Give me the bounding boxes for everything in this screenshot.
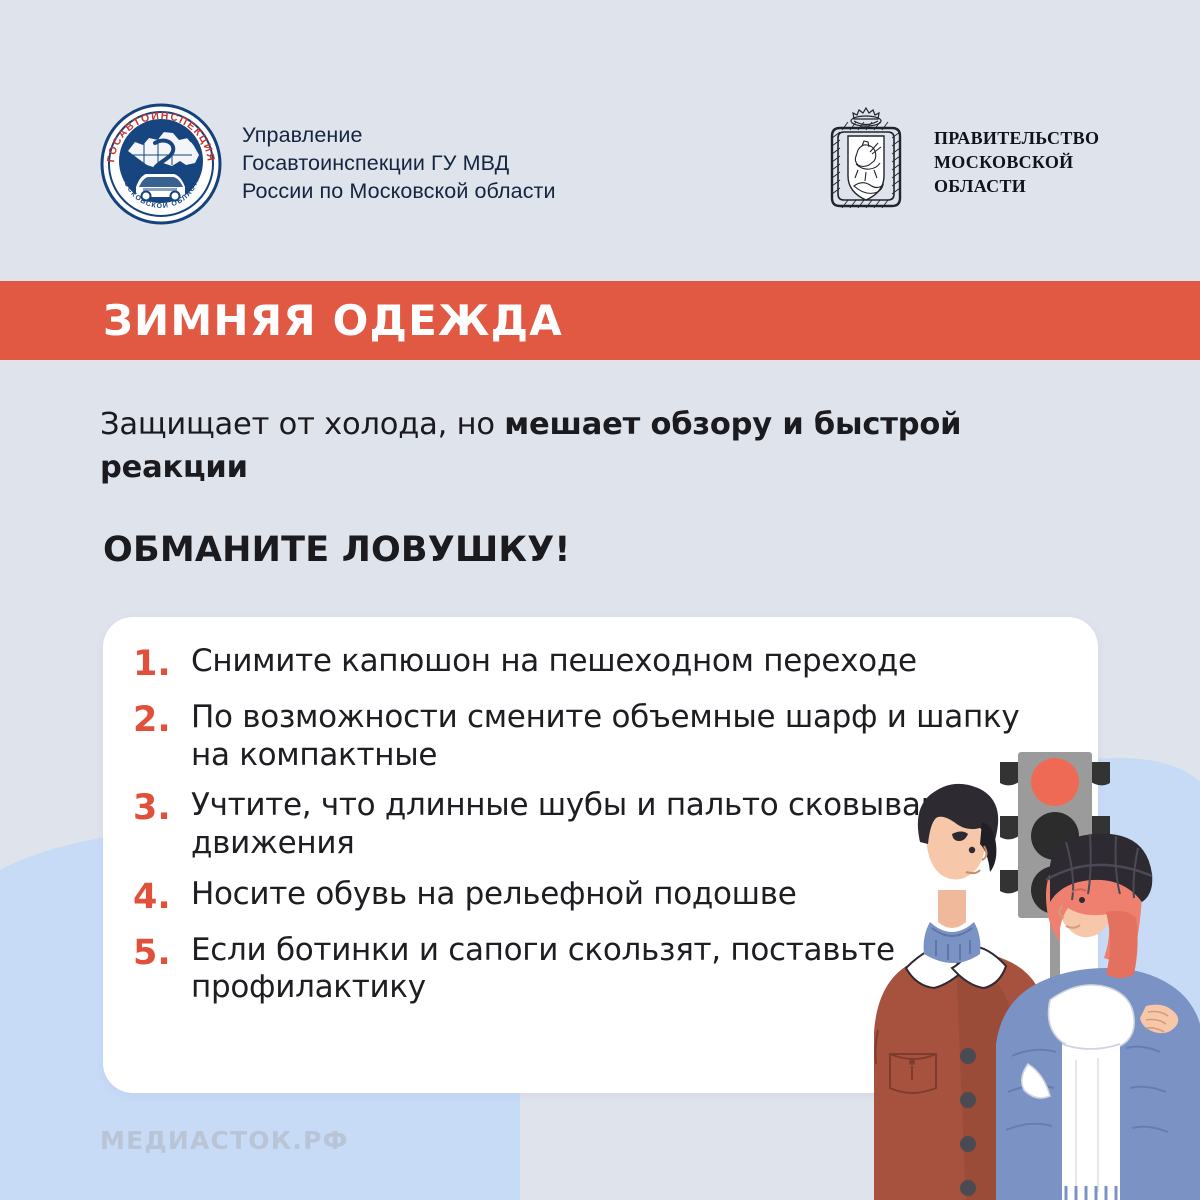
pedestrians-at-traffic-light-illustration [860,700,1200,1200]
gov-line-3: ОБЛАСТИ [934,175,1099,199]
lede-paragraph: Защищает от холода, но мешает обзору и б… [100,404,1060,489]
tip-number: 1. [133,643,191,686]
gov-line-2: МОСКОВСКОЙ [934,151,1099,175]
tip-text: Снимите капюшон на пешеходном переходе [191,643,917,681]
coat-button [960,1136,976,1152]
page-title: ЗИМНЯЯ ОДЕЖДА [103,296,563,345]
tip-number: 4. [133,876,191,919]
traffic-light-red-lamp [1031,758,1079,806]
gov-line-1: ПРАВИТЕЛЬСТВО [934,127,1099,151]
gai-line-2: Госавтоинспекции ГУ МВД [242,150,556,178]
header-logos: ГОСАВТОИНСПЕКЦИЯ МОСКОВСКОЙ ОБЛАСТИ Упра… [0,0,1200,281]
title-band: ЗИМНЯЯ ОДЕЖДА [0,281,1200,360]
tip-number: 5. [133,932,191,975]
coat-button [960,1048,976,1064]
watermark: МЕДИАСТОК.РФ [100,1126,349,1155]
tip-number: 2. [133,699,191,742]
lede-plain-text: Защищает от холода, но [100,407,504,442]
moscow-oblast-coat-of-arms-icon [818,104,914,222]
gosavtoinspekciya-logo-block: ГОСАВТОИНСПЕКЦИЯ МОСКОВСКОЙ ОБЛАСТИ Упра… [100,103,556,225]
government-logo-text: ПРАВИТЕЛЬСТВО МОСКОВСКОЙ ОБЛАСТИ [934,127,1099,199]
list-item: 1. Снимите капюшон на пешеходном переход… [133,643,1063,686]
coat-button [960,1180,976,1196]
coat-button [960,1092,976,1108]
gai-line-3: России по Московской области [242,178,556,206]
section-subheading: ОБМАНИТЕ ЛОВУШКУ! [103,530,571,570]
government-logo-block: ПРАВИТЕЛЬСТВО МОСКОВСКОЙ ОБЛАСТИ [818,104,1099,222]
gosavtoinspekciya-logo-text: Управление Госавтоинспекции ГУ МВД Росси… [242,122,556,206]
tip-text: Носите обувь на рельефной подошве [191,876,796,914]
poster-canvas: ГОСАВТОИНСПЕКЦИЯ МОСКОВСКОЙ ОБЛАСТИ Упра… [0,0,1200,1200]
tip-number: 3. [133,787,191,830]
gosavtoinspekciya-seal-icon: ГОСАВТОИНСПЕКЦИЯ МОСКОВСКОЙ ОБЛАСТИ [100,103,222,225]
gai-line-1: Управление [242,122,556,150]
